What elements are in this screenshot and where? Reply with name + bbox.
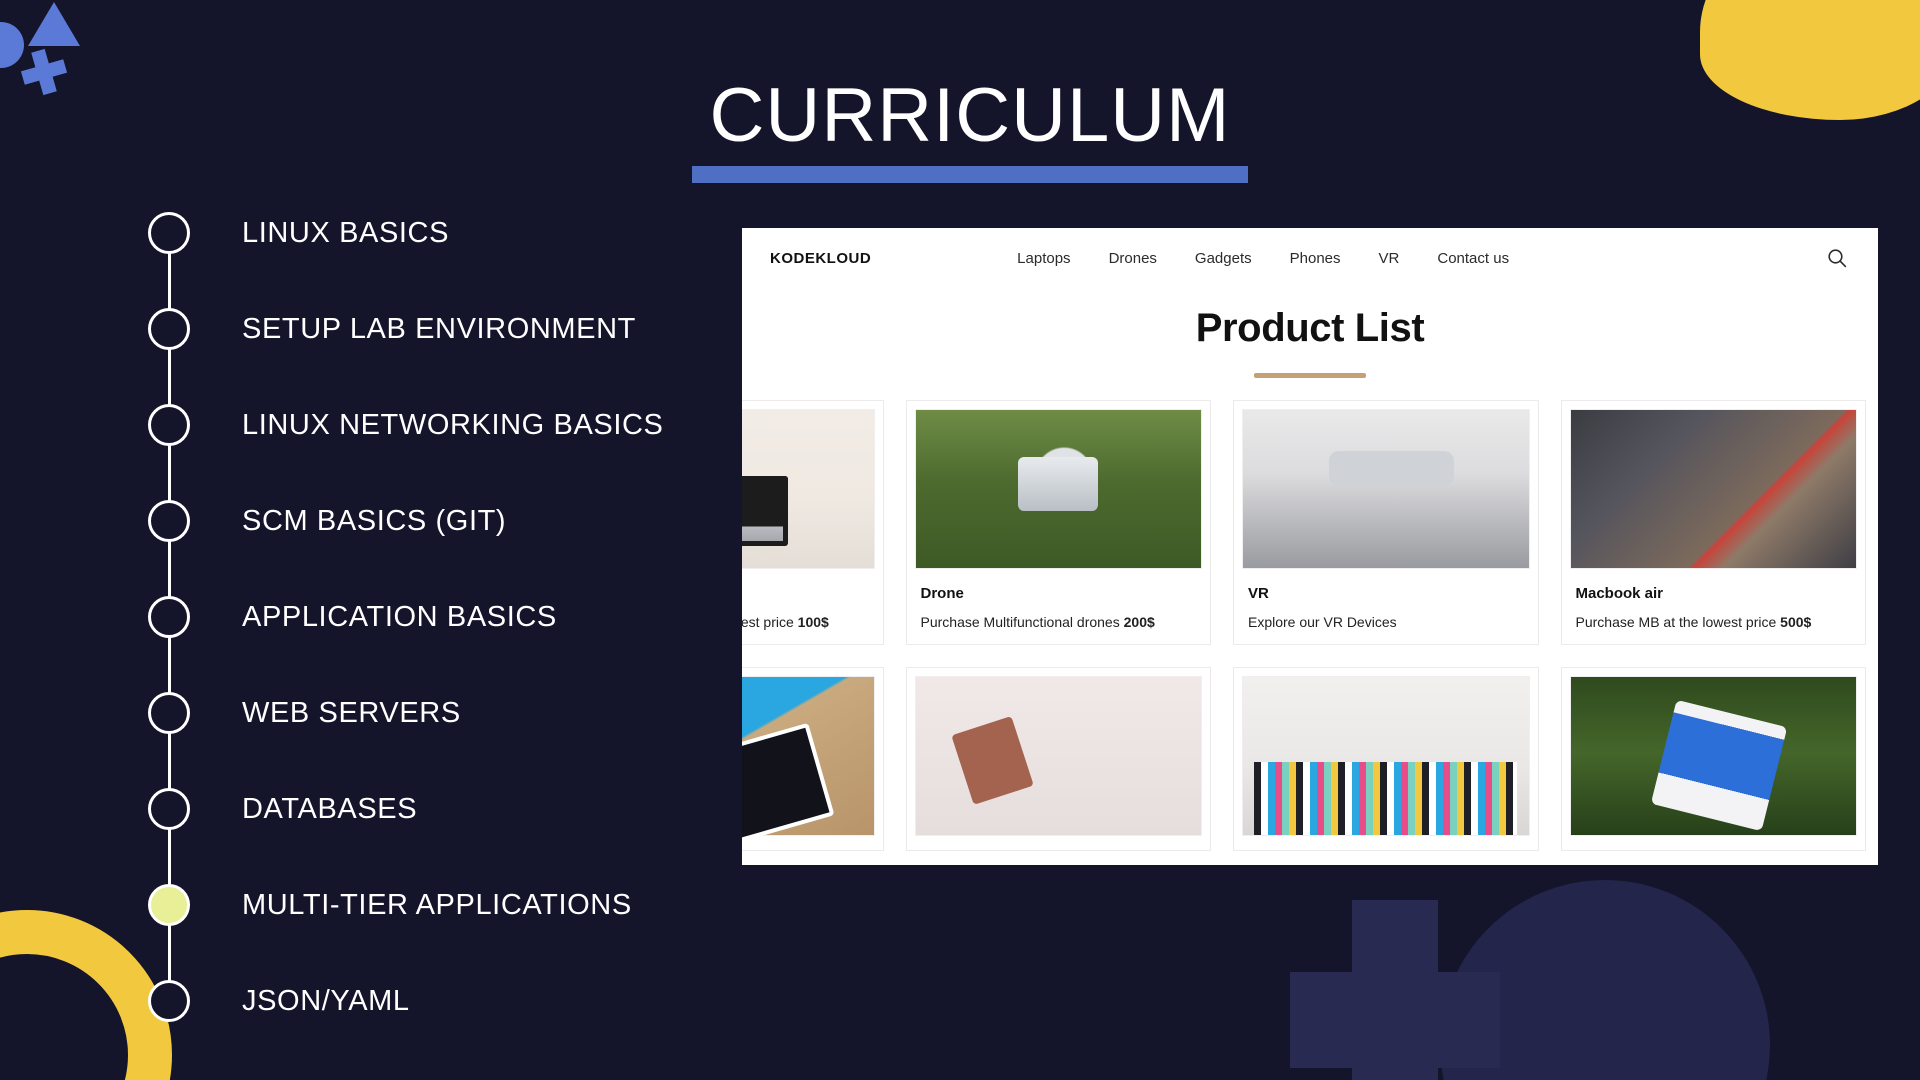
curriculum-item-label: MULTI-TIER APPLICATIONS xyxy=(242,889,632,922)
product-price: 100$ xyxy=(794,614,829,630)
product-grid-row-1: Macbook ProPurchase MB at the lowest pri… xyxy=(742,378,1878,645)
timeline-node-column xyxy=(140,761,198,857)
timeline-node-column xyxy=(140,665,198,761)
timeline-node-column xyxy=(140,857,198,953)
curriculum-item-label: JSON/YAML xyxy=(242,985,410,1018)
timeline-node-active[interactable] xyxy=(148,884,190,926)
decorative-dark-circle xyxy=(1440,880,1770,1080)
timeline-node-column xyxy=(140,953,198,1049)
page-title: CURRICULUM xyxy=(690,78,1250,154)
curriculum-item-label: SETUP LAB ENVIRONMENT xyxy=(242,313,636,346)
decorative-dark-plus xyxy=(1290,900,1500,1080)
product-card[interactable] xyxy=(1561,667,1867,851)
product-thumbnail xyxy=(1570,676,1858,836)
product-name: VR xyxy=(1242,585,1530,602)
product-card[interactable]: Macbook ProPurchase MB at the lowest pri… xyxy=(742,400,884,645)
product-card[interactable] xyxy=(742,667,884,851)
decorative-half-circle xyxy=(0,22,24,68)
nav-link-phones[interactable]: Phones xyxy=(1290,250,1341,267)
curriculum-item[interactable]: SCM BASICS (GIT) xyxy=(140,473,700,569)
curriculum-item-label: WEB SERVERS xyxy=(242,697,461,730)
timeline-node-column xyxy=(140,569,198,665)
curriculum-item-label: APPLICATION BASICS xyxy=(242,601,557,634)
curriculum-item[interactable]: WEB SERVERS xyxy=(140,665,700,761)
timeline-node[interactable] xyxy=(148,692,190,734)
product-description-text: Explore our VR Devices xyxy=(1248,614,1397,630)
curriculum-item[interactable]: MULTI-TIER APPLICATIONS xyxy=(140,857,700,953)
decorative-plus-icon xyxy=(17,45,71,99)
timeline-node[interactable] xyxy=(148,308,190,350)
timeline-node-column xyxy=(140,185,198,281)
search-icon[interactable] xyxy=(1826,247,1848,269)
product-description-text: Purchase Multifunctional drones xyxy=(921,614,1120,630)
decorative-triangle-icon xyxy=(28,2,80,46)
timeline-node-column xyxy=(140,377,198,473)
product-thumbnail xyxy=(915,676,1203,836)
site-logo[interactable]: KODEKLOUD xyxy=(770,250,871,267)
timeline-node[interactable] xyxy=(148,980,190,1022)
curriculum-item-label: SCM BASICS (GIT) xyxy=(242,505,506,538)
product-card[interactable]: DronePurchase Multifunctional drones 200… xyxy=(906,400,1212,645)
product-description: Purchase MB at the lowest price 500$ xyxy=(1570,614,1858,630)
curriculum-item[interactable]: JSON/YAML xyxy=(140,953,700,1049)
product-thumbnail xyxy=(742,409,875,569)
curriculum-item-label: LINUX NETWORKING BASICS xyxy=(242,409,663,442)
product-card[interactable] xyxy=(1233,667,1539,851)
curriculum-item[interactable]: SETUP LAB ENVIRONMENT xyxy=(140,281,700,377)
product-name: Macbook Pro xyxy=(742,585,875,602)
nav-link-drones[interactable]: Drones xyxy=(1109,250,1157,267)
nav-links: LaptopsDronesGadgetsPhonesVRContact us xyxy=(1017,250,1509,267)
timeline-node-column xyxy=(140,281,198,377)
product-price: 200$ xyxy=(1120,614,1155,630)
embedded-browser-screenshot: KODEKLOUD LaptopsDronesGadgetsPhonesVRCo… xyxy=(742,228,1878,865)
curriculum-item-label: DATABASES xyxy=(242,793,417,826)
product-description: Purchase MB at the lowest price 100$ xyxy=(742,614,875,630)
curriculum-timeline: LINUX BASICSSETUP LAB ENVIRONMENTLINUX N… xyxy=(140,185,700,1049)
product-thumbnail xyxy=(742,676,875,836)
timeline-node[interactable] xyxy=(148,404,190,446)
curriculum-item[interactable]: APPLICATION BASICS xyxy=(140,569,700,665)
product-thumbnail xyxy=(1242,409,1530,569)
product-description-text: Purchase MB at the lowest price xyxy=(1576,614,1777,630)
product-name: Macbook air xyxy=(1570,585,1858,602)
product-price: 500$ xyxy=(1776,614,1811,630)
timeline-node[interactable] xyxy=(148,596,190,638)
decorative-yellow-blob xyxy=(1700,0,1920,120)
timeline-node[interactable] xyxy=(148,788,190,830)
curriculum-item[interactable]: DATABASES xyxy=(140,761,700,857)
product-card[interactable]: VRExplore our VR Devices xyxy=(1233,400,1539,645)
timeline-node[interactable] xyxy=(148,212,190,254)
site-navbar: KODEKLOUD LaptopsDronesGadgetsPhonesVRCo… xyxy=(742,228,1878,288)
page-heading: Product List xyxy=(742,306,1878,351)
timeline-node-column xyxy=(140,473,198,569)
slide-canvas: CURRICULUM LINUX BASICSSETUP LAB ENVIRON… xyxy=(0,0,1920,1080)
product-description-text: Purchase MB at the lowest price xyxy=(742,614,794,630)
product-thumbnail xyxy=(915,409,1203,569)
product-description: Explore our VR Devices xyxy=(1242,614,1530,630)
title-underline xyxy=(692,166,1248,183)
product-grid-row-2 xyxy=(742,667,1878,851)
nav-link-gadgets[interactable]: Gadgets xyxy=(1195,250,1252,267)
nav-link-contact-us[interactable]: Contact us xyxy=(1437,250,1509,267)
product-card[interactable]: Macbook airPurchase MB at the lowest pri… xyxy=(1561,400,1867,645)
curriculum-item[interactable]: LINUX NETWORKING BASICS xyxy=(140,377,700,473)
product-thumbnail xyxy=(1242,676,1530,836)
product-card[interactable] xyxy=(906,667,1212,851)
curriculum-item[interactable]: LINUX BASICS xyxy=(140,185,700,281)
product-description: Purchase Multifunctional drones 200$ xyxy=(915,614,1203,630)
product-heading-wrap: Product List xyxy=(742,306,1878,378)
nav-link-vr[interactable]: VR xyxy=(1379,250,1400,267)
title-block: CURRICULUM xyxy=(690,78,1250,183)
product-thumbnail xyxy=(1570,409,1858,569)
timeline-node[interactable] xyxy=(148,500,190,542)
product-name: Drone xyxy=(915,585,1203,602)
curriculum-item-label: LINUX BASICS xyxy=(242,217,449,250)
nav-link-laptops[interactable]: Laptops xyxy=(1017,250,1070,267)
